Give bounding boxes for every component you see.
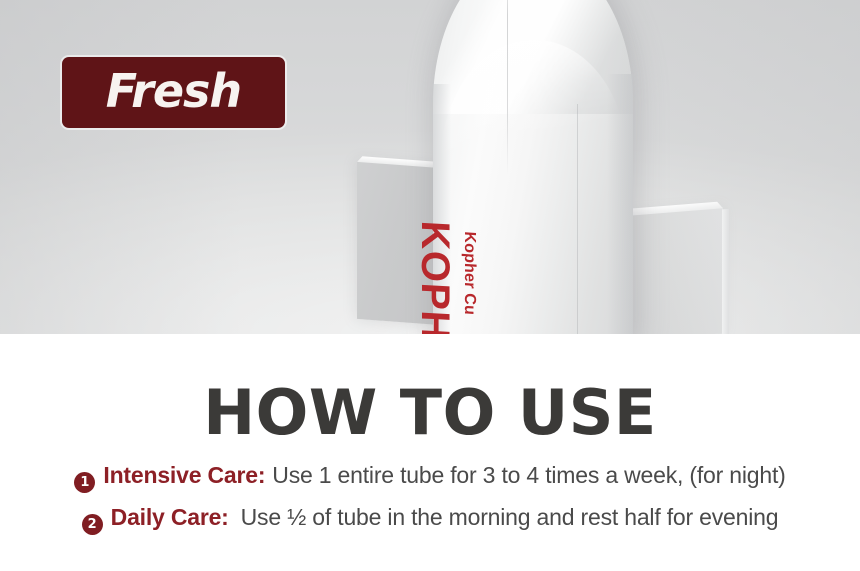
step-description-1: Use 1 entire tube for 3 to 4 times a wee…: [272, 462, 785, 489]
step-number-badge-2: 2: [82, 514, 103, 535]
step-title-2: Daily Care:: [111, 504, 229, 531]
product-brand-subtitle: Kopher Cu: [460, 231, 478, 316]
product-tube-panel-seam: [577, 104, 578, 334]
product-hero-image: KOPH Kopher Cu Fresh: [0, 0, 860, 334]
product-tube-crease: [507, 0, 508, 174]
fresh-badge-label: Fresh: [106, 68, 241, 117]
usage-step-list: 1 Intensive Care: Use 1 entire tube for …: [0, 462, 860, 532]
fresh-badge: Fresh: [62, 57, 285, 128]
page-title: HOW TO USE: [0, 382, 860, 444]
product-side-card-right: [629, 207, 723, 334]
usage-step: 2 Daily Care: Use ½ of tube in the morni…: [0, 504, 860, 532]
product-tube-edge-right: [607, 74, 633, 334]
product-side-card-left: [357, 161, 441, 325]
step-title-1: Intensive Care:: [103, 462, 265, 489]
instructions-section: HOW TO USE 1 Intensive Care: Use 1 entir…: [0, 334, 860, 571]
product-instruction-poster: KOPH Kopher Cu Fresh HOW TO USE 1 Intens…: [0, 0, 860, 571]
step-number-badge-1: 1: [74, 472, 95, 493]
step-description-2: Use ½ of tube in the morning and rest ha…: [241, 504, 779, 531]
usage-step: 1 Intensive Care: Use 1 entire tube for …: [0, 462, 860, 490]
product-tube-edge-left: [433, 84, 451, 334]
